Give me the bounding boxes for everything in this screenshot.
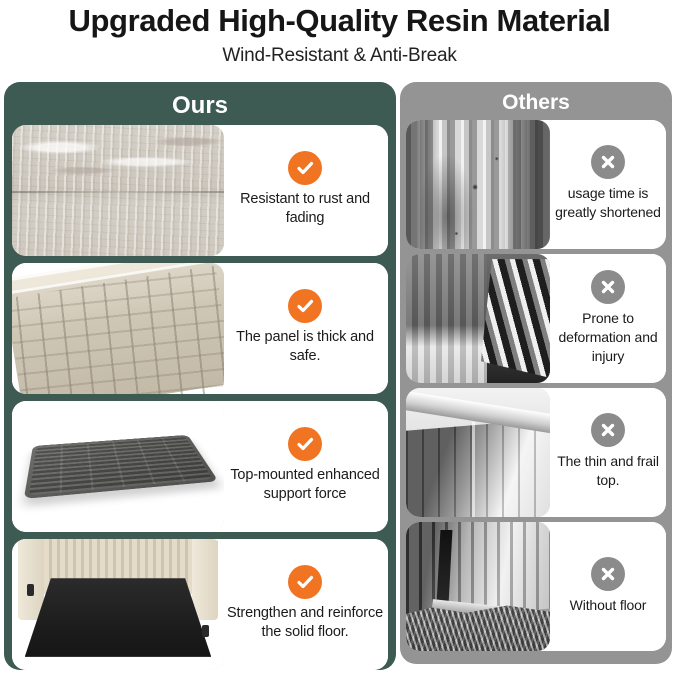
ours-heading: Ours bbox=[12, 88, 388, 125]
others-heading: Others bbox=[406, 86, 666, 120]
header: Upgraded High-Quality Resin Material Win… bbox=[0, 0, 679, 70]
shed-base-on-grass-no-floor-photo bbox=[406, 522, 550, 651]
ours-feature-label: The panel is thick and safe. bbox=[226, 328, 384, 366]
shed-interior-solid-floor-photo bbox=[12, 539, 224, 670]
cross-circle-icon bbox=[591, 145, 625, 179]
ours-row: The panel is thick and safe. bbox=[12, 263, 388, 394]
others-feature-cell: Without floor bbox=[550, 522, 666, 651]
others-feature-label: Prone to deformation and injury bbox=[554, 309, 662, 366]
check-circle-icon bbox=[288, 427, 322, 461]
cross-circle-icon bbox=[591, 557, 625, 591]
others-feature-cell: The thin and frail top. bbox=[550, 388, 666, 517]
ours-feature-cell: The panel is thick and safe. bbox=[224, 263, 388, 394]
ours-feature-cell: Top-mounted enhanced support force bbox=[224, 401, 388, 532]
ours-row: Top-mounted enhanced support force bbox=[12, 401, 388, 532]
check-circle-icon bbox=[288, 151, 322, 185]
ours-row: Resistant to rust and fading bbox=[12, 125, 388, 256]
ours-panel: Ours Resistant to rust and fading bbox=[4, 82, 396, 670]
others-row-list: usage time is greatly shortened Prone to… bbox=[406, 120, 666, 651]
comparison-section: Ours Resistant to rust and fading bbox=[0, 78, 679, 674]
resin-wood-grain-texture-photo bbox=[12, 125, 224, 256]
ours-feature-label: Resistant to rust and fading bbox=[226, 190, 384, 228]
others-feature-label: Without floor bbox=[570, 596, 647, 615]
others-feature-label: usage time is greatly shortened bbox=[554, 184, 662, 222]
check-circle-icon bbox=[288, 565, 322, 599]
deformed-bent-metal-panel-photo bbox=[406, 254, 550, 383]
ours-feature-cell: Strengthen and reinforce the solid floor… bbox=[224, 539, 388, 670]
page-subtitle: Wind-Resistant & Anti-Break bbox=[0, 42, 679, 70]
others-row: Prone to deformation and injury bbox=[406, 254, 666, 383]
ours-row: Strengthen and reinforce the solid floor… bbox=[12, 539, 388, 670]
others-feature-label: The thin and frail top. bbox=[554, 452, 662, 490]
ours-row-list: Resistant to rust and fading The panel i… bbox=[12, 125, 388, 670]
others-row: The thin and frail top. bbox=[406, 388, 666, 517]
others-row: usage time is greatly shortened bbox=[406, 120, 666, 249]
ours-feature-label: Top-mounted enhanced support force bbox=[226, 466, 384, 504]
ours-feature-cell: Resistant to rust and fading bbox=[224, 125, 388, 256]
thick-vented-resin-panel-photo bbox=[12, 263, 224, 394]
ours-feature-label: Strengthen and reinforce the solid floor… bbox=[226, 604, 384, 642]
others-feature-cell: Prone to deformation and injury bbox=[550, 254, 666, 383]
page-title: Upgraded High-Quality Resin Material bbox=[0, 2, 679, 40]
cross-circle-icon bbox=[591, 270, 625, 304]
grey-reinforced-floor-mat-photo bbox=[12, 401, 224, 532]
cross-circle-icon bbox=[591, 413, 625, 447]
others-panel: Others usage time is greatly shortened bbox=[400, 82, 672, 664]
thin-metal-roof-edge-photo bbox=[406, 388, 550, 517]
others-feature-cell: usage time is greatly shortened bbox=[550, 120, 666, 249]
check-circle-icon bbox=[288, 289, 322, 323]
others-row: Without floor bbox=[406, 522, 666, 651]
rusted-corrugated-metal-photo bbox=[406, 120, 550, 249]
